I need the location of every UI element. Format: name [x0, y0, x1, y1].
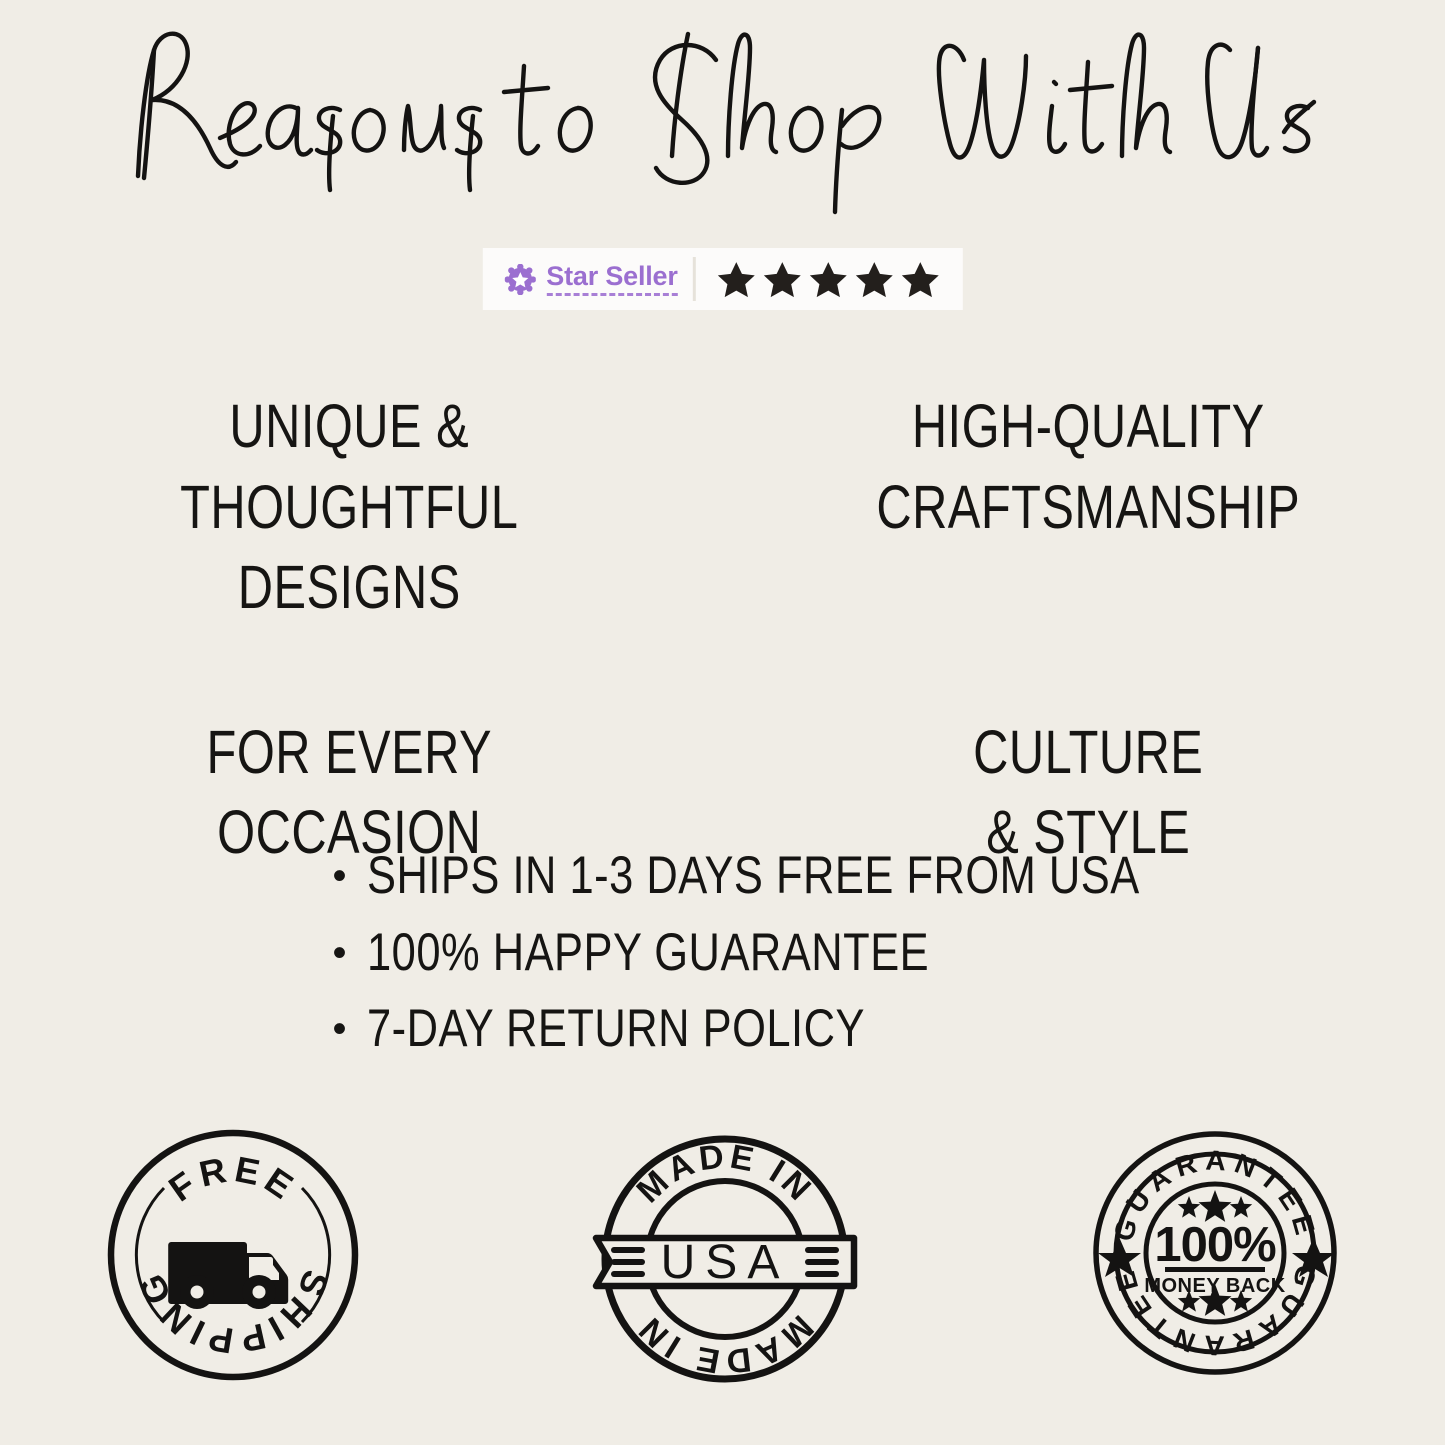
badge-center-secondary: MONEY BACK: [1144, 1275, 1285, 1297]
badge-center-primary: 100%: [1154, 1218, 1276, 1272]
promo-graphic: Reasons to Shop With Us: [0, 0, 1445, 1445]
star-seller-badge: Star Seller: [482, 248, 962, 310]
bullet-icon: •: [333, 856, 347, 896]
policy-list: • SHIPS IN 1-3 DAYS FREE FROM USA • 100%…: [0, 848, 1445, 1078]
badge-top-text: MADE IN: [629, 1137, 820, 1210]
list-item-label: 7-DAY RETURN POLICY: [367, 1001, 865, 1057]
list-item: • SHIPS IN 1-3 DAYS FREE FROM USA: [333, 848, 1133, 904]
star-icon: [762, 259, 803, 300]
feature-high-quality-craftsmanship: HIGH-QUALITY CRAFTSMANSHIP: [795, 386, 1373, 628]
page-title-script: Reasons to Shop With Us: [108, 26, 1338, 216]
made-in-usa-badge: MADE IN MADE IN USA: [592, 1126, 858, 1392]
feature-unique-thoughtful-designs: UNIQUE & THOUGHTFUL DESIGNS: [72, 386, 650, 628]
star-rating: [696, 248, 963, 310]
badge-banner-text: USA: [660, 1236, 789, 1289]
delivery-truck-icon: [168, 1242, 288, 1309]
list-item-label: 100% HAPPY GUARANTEE: [367, 925, 929, 981]
list-item: • 7-DAY RETURN POLICY: [333, 1001, 1133, 1057]
star-seller-label: Star Seller: [546, 263, 677, 296]
list-item: • 100% HAPPY GUARANTEE: [333, 925, 1133, 981]
star-seller-left: Star Seller: [482, 248, 695, 310]
star-icon: [900, 259, 941, 300]
free-shipping-badge: FREE SHIPPING: [104, 1126, 362, 1384]
list-item-label: SHIPS IN 1-3 DAYS FREE FROM USA: [367, 848, 1140, 904]
badge-center-divider: [1165, 1267, 1265, 1272]
bullet-icon: •: [333, 933, 347, 973]
trust-badges: FREE SHIPPING: [0, 1126, 1445, 1392]
money-back-guarantee-badge: GUARANTEE GUARANTEE: [1088, 1126, 1342, 1380]
bullet-icon: •: [333, 1009, 347, 1049]
usa-ribbon: USA: [596, 1236, 854, 1289]
star-icon: [716, 259, 757, 300]
feature-grid: UNIQUE & THOUGHTFUL DESIGNS HIGH-QUALITY…: [0, 386, 1445, 873]
badge-bottom-text: MADE IN: [629, 1307, 820, 1380]
star-seller-rosette-icon: [504, 264, 535, 295]
badge-top-text: FREE: [161, 1148, 304, 1209]
star-icon: [808, 259, 849, 300]
star-icon: [854, 259, 895, 300]
page-title: Reasons to Shop With Us: [0, 26, 1445, 216]
